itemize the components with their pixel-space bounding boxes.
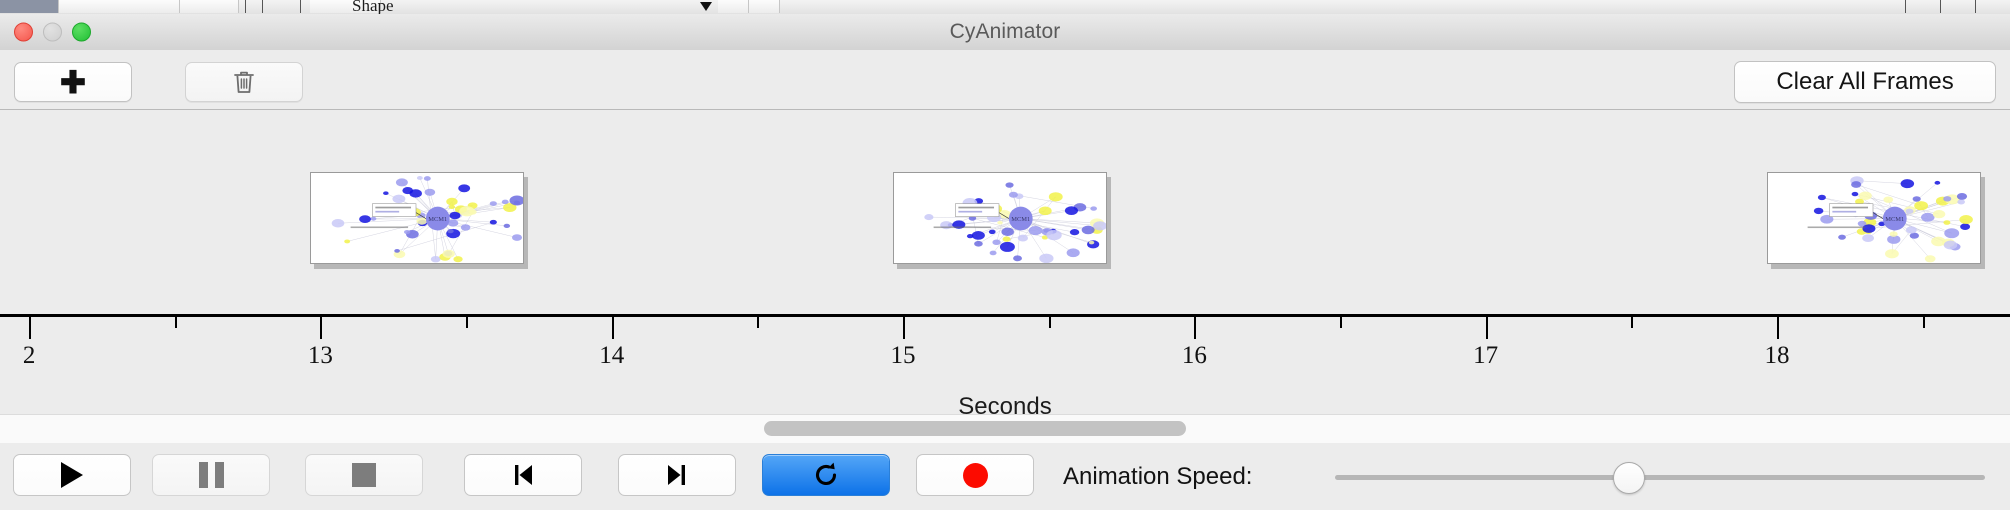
bg-chip	[749, 0, 780, 13]
tick-minor	[1340, 317, 1342, 328]
slider-thumb[interactable]	[1613, 462, 1645, 494]
bg-chip	[180, 0, 239, 13]
svg-text:MCM1: MCM1	[1011, 216, 1030, 223]
title-bar: CyAnimator	[0, 14, 2010, 51]
play-button[interactable]	[13, 454, 131, 496]
slider-track	[1335, 475, 1985, 480]
tick-major	[320, 317, 322, 339]
tick-major	[1777, 317, 1779, 339]
skip-forward-icon	[662, 462, 692, 488]
record-icon	[963, 463, 988, 488]
background-window-label: Shape	[352, 0, 394, 15]
tick-label: 13	[308, 342, 333, 370]
timeline-panel[interactable]: MCM1MCM1MCM1 2131415161718 Seconds	[0, 110, 2010, 414]
background-window-strip: Shape	[0, 0, 2010, 15]
play-icon	[61, 462, 83, 488]
bg-tick	[300, 0, 301, 13]
svg-text:MCM1: MCM1	[429, 216, 448, 223]
tick-major	[612, 317, 614, 339]
timeline-frame-thumbnail[interactable]: MCM1	[893, 172, 1107, 264]
stop-button[interactable]	[305, 454, 423, 496]
tick-major	[903, 317, 905, 339]
animation-speed-label: Animation Speed:	[1063, 463, 1252, 491]
tick-major	[1194, 317, 1196, 339]
toolbar: ✚ Clear All Frames	[0, 50, 2010, 110]
scrollbar-thumb[interactable]	[764, 421, 1186, 436]
loop-button[interactable]	[762, 454, 890, 496]
tick-minor	[757, 317, 759, 328]
pause-button[interactable]	[152, 454, 270, 496]
tick-minor	[1631, 317, 1633, 328]
bg-tick	[1940, 0, 1941, 13]
trash-icon	[232, 69, 256, 95]
timeline-scrollbar[interactable]	[0, 414, 2010, 444]
cyanimator-window: Shape CyAnimator ✚	[0, 0, 2010, 510]
bg-tick	[1975, 0, 1976, 13]
tick-minor	[1923, 317, 1925, 328]
bg-chip	[718, 0, 749, 13]
tick-label: 16	[1182, 342, 1207, 370]
tick-minor	[175, 317, 177, 328]
tick-label: 2	[23, 342, 36, 370]
pause-icon	[199, 462, 224, 488]
tick-minor	[1049, 317, 1051, 328]
frames-layer: MCM1MCM1MCM1	[0, 110, 2010, 315]
bg-chip	[59, 0, 180, 13]
bg-chip-selected	[0, 0, 59, 13]
clear-all-frames-button[interactable]: Clear All Frames	[1734, 61, 1996, 103]
tick-label: 14	[599, 342, 624, 370]
plus-icon: ✚	[60, 67, 86, 98]
previous-frame-button[interactable]	[464, 454, 582, 496]
tick-minor	[466, 317, 468, 328]
bg-tick	[262, 0, 263, 13]
animation-speed-slider[interactable]	[1335, 462, 1985, 492]
timeline-frame-thumbnail[interactable]: MCM1	[310, 172, 524, 264]
bg-tick	[1905, 0, 1906, 13]
bg-tick	[245, 0, 246, 13]
stop-icon	[352, 463, 376, 487]
tick-label: 15	[891, 342, 916, 370]
timeline-frame-thumbnail[interactable]: MCM1	[1767, 172, 1981, 264]
tick-major	[1486, 317, 1488, 339]
timeline-axis	[0, 314, 2010, 317]
tick-label: 18	[1764, 342, 1789, 370]
skip-back-icon	[508, 462, 538, 488]
delete-frame-button[interactable]	[185, 62, 303, 102]
tick-label: 17	[1473, 342, 1498, 370]
background-toolbar: Shape	[0, 0, 2010, 14]
add-frame-button[interactable]: ✚	[14, 62, 132, 102]
record-button[interactable]	[916, 454, 1034, 496]
transport-bar: Animation Speed:	[0, 443, 2010, 510]
bg-caret-icon	[700, 2, 712, 11]
window-title: CyAnimator	[0, 20, 2010, 44]
next-frame-button[interactable]	[618, 454, 736, 496]
axis-title-seconds: Seconds	[0, 393, 2010, 414]
loop-icon	[811, 460, 841, 490]
svg-text:MCM1: MCM1	[1885, 216, 1904, 223]
tick-major	[29, 317, 31, 339]
